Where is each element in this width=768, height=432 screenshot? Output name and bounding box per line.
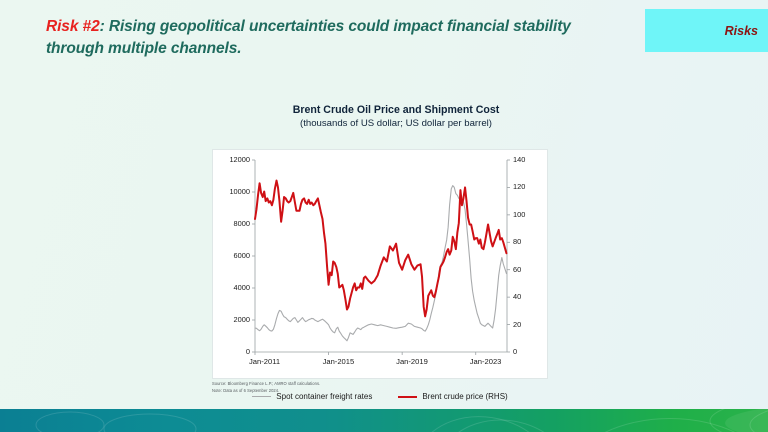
chart-title: Brent Crude Oil Price and Shipment Cost: [196, 104, 596, 117]
y-axis-right-tick-label: 60: [513, 266, 521, 273]
legend-item-brent: Brent crude price (RHS): [398, 392, 507, 401]
legend-swatch-line-icon: [398, 396, 417, 398]
page-title: Risk #2: Rising geopolitical uncertainti…: [46, 16, 606, 61]
source-note: Source: Bloomberg Finance L.P.; AMRO sta…: [212, 380, 320, 394]
status-badge-risks: Risks: [645, 9, 768, 52]
y-axis-right-tick-label: 0: [513, 348, 517, 355]
y-axis-left-tick-label: 4000: [234, 284, 250, 291]
y-axis-left-tick-label: 2000: [234, 316, 250, 323]
note-line: Note: Data as of 6 September 2024.: [212, 387, 320, 394]
y-axis-right-tick-label: 100: [513, 211, 525, 218]
y-axis-right-tick-label: 120: [513, 183, 525, 190]
x-axis-tick-label: Jan-2011: [249, 358, 280, 366]
y-axis-left-tick-label: 12000: [229, 156, 250, 163]
risk-tag: Risk #2: [46, 18, 100, 35]
x-axis-tick-label: Jan-2019: [396, 358, 428, 366]
footer-decorative-bar: [0, 409, 768, 432]
chart-container: Brent Crude Oil Price and Shipment Cost …: [196, 104, 596, 400]
legend-label: Brent crude price (RHS): [422, 392, 507, 401]
x-axis-tick-label: Jan-2023: [470, 358, 502, 366]
y-axis-right-tick-label: 20: [513, 321, 521, 328]
y-axis-left-tick-label: 6000: [234, 252, 250, 259]
y-axis-right-tick-label: 80: [513, 238, 521, 245]
y-axis-left-tick-label: 8000: [234, 220, 250, 227]
footer-pattern: [0, 409, 768, 432]
status-badge-label: Risks: [725, 24, 758, 38]
chart-plot-card: 0200040006000800010000120000204060801001…: [212, 149, 548, 379]
chart-svg: [213, 150, 547, 378]
chart-subtitle: (thousands of US dollar; US dollar per b…: [196, 118, 596, 130]
y-axis-right-tick-label: 140: [513, 156, 525, 163]
y-axis-right-tick-label: 40: [513, 293, 521, 300]
headline-rest: : Rising geopolitical uncertainties coul…: [46, 18, 571, 57]
slide-root: Risk #2: Rising geopolitical uncertainti…: [0, 0, 768, 432]
y-axis-left-tick-label: 0: [246, 348, 250, 355]
legend-swatch-line-icon: [252, 396, 271, 397]
source-line: Source: Bloomberg Finance L.P.; AMRO sta…: [212, 380, 320, 387]
chart-plot-area: 0200040006000800010000120000204060801001…: [213, 150, 547, 378]
x-axis-tick-label: Jan-2015: [323, 358, 355, 366]
y-axis-left-tick-label: 10000: [229, 188, 250, 195]
